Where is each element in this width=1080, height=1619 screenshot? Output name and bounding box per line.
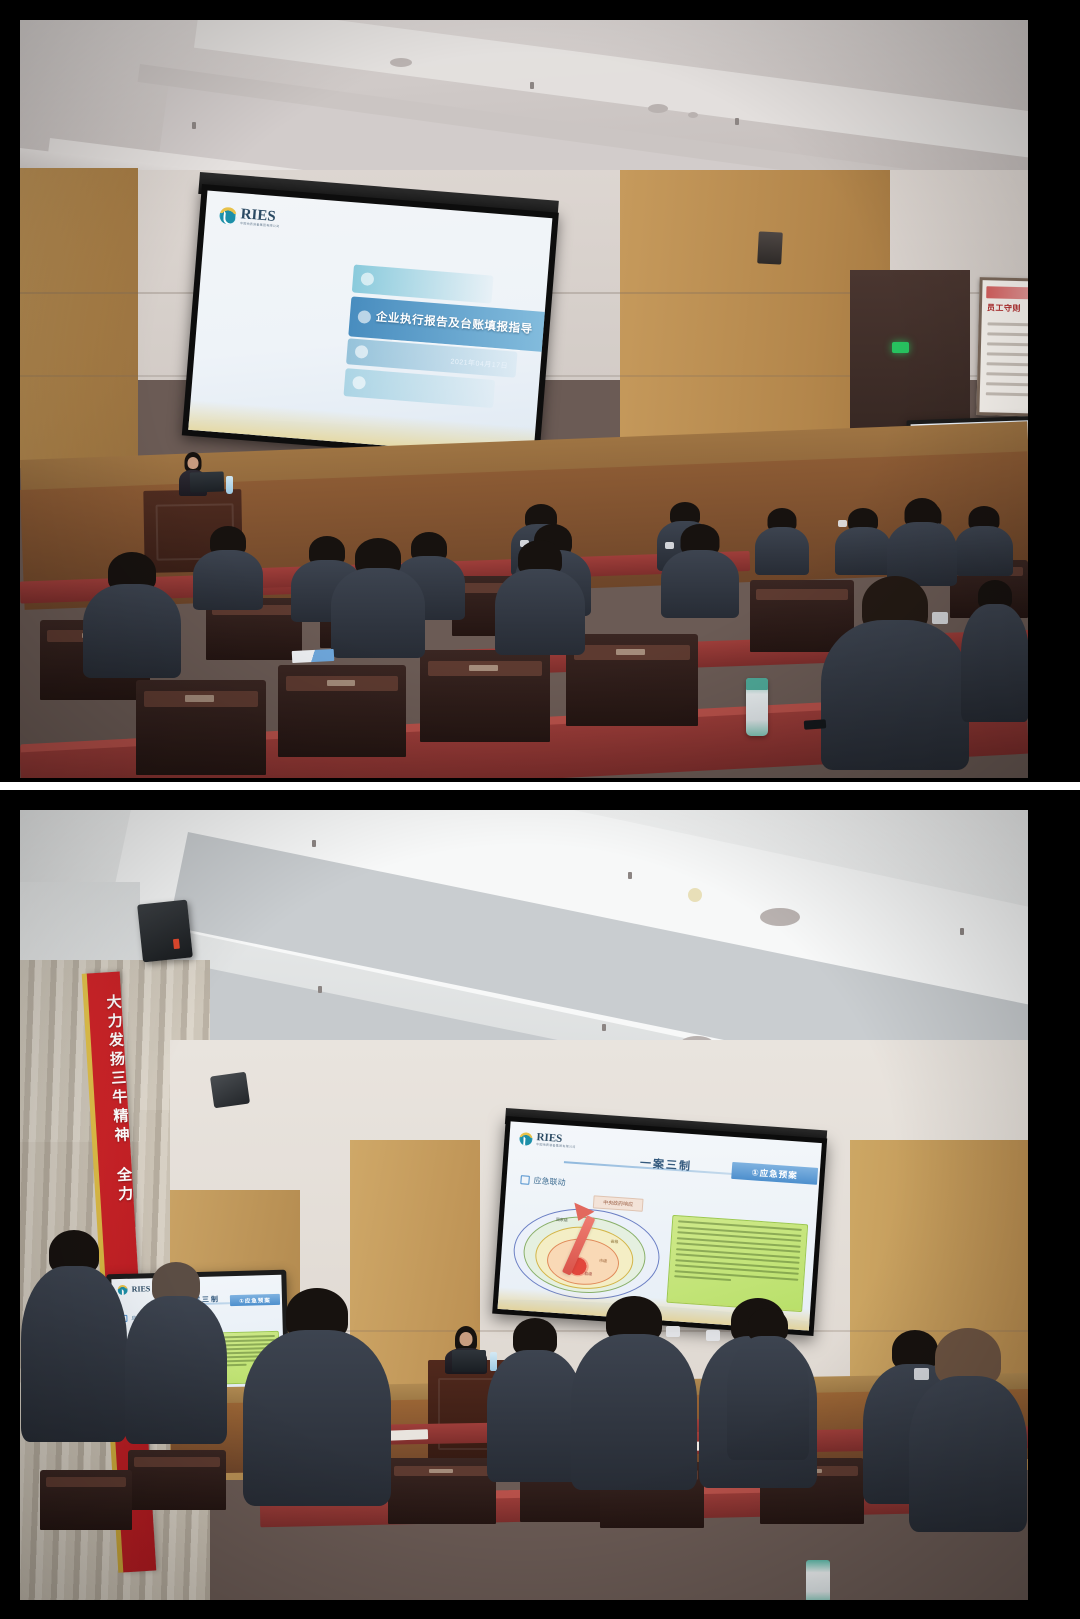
photo-collage-page: 员工守则 RIES 中国地质装备集团有限公司	[0, 0, 1080, 1619]
ries-u-logo-icon	[519, 1132, 533, 1146]
poster-text-line	[986, 372, 1028, 376]
poster-header-band	[986, 286, 1028, 300]
audience-member	[960, 580, 1028, 720]
cup-lid	[746, 678, 768, 690]
presenter-laptop	[452, 1350, 486, 1372]
face-mask	[706, 1330, 720, 1341]
body	[21, 1266, 127, 1442]
body	[487, 1350, 583, 1482]
green-text-line	[674, 1275, 731, 1281]
audience-member	[726, 1308, 810, 1458]
sprinkler-head	[318, 986, 322, 993]
slide-section-tab: ①应急预案	[731, 1162, 818, 1185]
chair-tag	[327, 680, 355, 686]
ceiling-downlight	[688, 888, 702, 902]
auditorium-chair	[388, 1458, 496, 1524]
body	[125, 1296, 227, 1444]
body	[955, 526, 1013, 576]
ceiling-speaker-grille	[760, 908, 800, 926]
ceiling-speaker-icon	[210, 1072, 250, 1109]
audience-member	[124, 1262, 228, 1442]
auditorium-chair	[136, 680, 266, 775]
mobile-phone	[804, 719, 827, 730]
body	[661, 550, 739, 618]
audience-member	[192, 526, 264, 608]
wall-speaker-icon	[757, 231, 783, 264]
ries-logo: RIES 中国地质装备集团有限公司	[219, 206, 281, 229]
body	[495, 569, 585, 655]
ries-subtext: 中国地质装备集团有限公司	[536, 1143, 576, 1150]
audience-member	[570, 1296, 698, 1486]
sprinkler-head	[602, 1024, 606, 1031]
body	[331, 568, 425, 658]
poster-text-line	[986, 382, 1028, 386]
sprinkler-head	[735, 118, 739, 125]
presenter-head	[460, 1332, 473, 1346]
poster-title: 员工守则	[987, 304, 1028, 314]
face-mask	[665, 542, 674, 549]
face-mask	[932, 612, 948, 624]
audience-member	[330, 538, 426, 656]
presenter-head	[188, 457, 199, 469]
ring-label-national: 国家级	[556, 1217, 568, 1224]
ring-label-city: 市级	[599, 1258, 607, 1265]
projector-screen-border: RIES 中国地质装备集团有限公司 企业执行报告及台账填报指导 2021年04月…	[182, 184, 559, 464]
thermos-cup	[806, 1560, 830, 1600]
ring-label-county: 县级	[584, 1271, 592, 1278]
presenter-laptop	[190, 471, 225, 492]
audience-member	[954, 506, 1014, 574]
sprinkler-head	[530, 82, 534, 89]
poster-text-line	[987, 332, 1028, 336]
auditorium-chair	[278, 665, 406, 757]
audience-member	[834, 508, 892, 572]
document-folder	[292, 649, 335, 663]
chair-tag	[429, 1469, 453, 1474]
photo-top-auditorium-wide: 员工守则 RIES 中国地质装备集团有限公司	[20, 20, 1028, 778]
body	[909, 1376, 1027, 1532]
body	[755, 527, 809, 575]
chair-tag	[616, 649, 645, 655]
body	[961, 604, 1028, 722]
audience-member	[20, 1230, 128, 1440]
ring-label-provincial: 省级	[610, 1239, 618, 1246]
projector-slide-title: RIES 中国地质装备集团有限公司 企业执行报告及台账填报指导 2021年04月…	[188, 190, 552, 457]
chair-tag	[469, 665, 498, 671]
ries-u-logo-icon	[219, 206, 237, 224]
ceiling-downlight	[648, 104, 668, 113]
audience-member	[82, 552, 182, 676]
auditorium-chair	[128, 1450, 226, 1510]
audience-member	[754, 508, 810, 572]
poster-text-line	[987, 362, 1028, 366]
wall-speaker-icon	[137, 900, 193, 963]
slide-bullet-label: 应急联动	[533, 1175, 566, 1188]
poster-text-line	[986, 392, 1028, 396]
water-bottle	[226, 476, 233, 494]
audience-member	[494, 540, 586, 652]
face-mask	[666, 1326, 680, 1337]
chair-rail	[46, 1477, 127, 1487]
thermos-cup	[746, 678, 768, 736]
body	[821, 620, 969, 770]
wall-wood-left	[20, 168, 138, 468]
poster-text-line	[987, 342, 1028, 346]
body	[571, 1334, 697, 1490]
checkbox-icon	[520, 1175, 530, 1185]
audience-member	[242, 1288, 392, 1502]
slide-title-text: 一案三制	[640, 1154, 693, 1174]
green-text-line	[678, 1220, 802, 1231]
poster-text-line	[988, 322, 1028, 326]
auditorium-chair	[420, 650, 550, 742]
body	[83, 584, 181, 678]
sprinkler-head	[960, 928, 964, 935]
audience-member	[660, 524, 740, 616]
photo-bottom-auditorium-rear: 大力发扬三牛精神 全力 RIES 中国地质装备集团有限公司 一案三制 ①应急预案…	[20, 810, 1028, 1600]
body	[243, 1330, 391, 1506]
sprinkler-head	[628, 872, 632, 879]
sprinkler-head	[192, 122, 196, 129]
ceiling-downlight	[390, 58, 412, 67]
poster-text-line	[987, 352, 1028, 356]
ceiling-downlight	[688, 112, 698, 118]
audience-member	[886, 498, 958, 584]
wall-poster: 员工守则	[976, 277, 1028, 417]
face-mask	[914, 1368, 929, 1380]
chair-tag	[185, 695, 214, 702]
audience-member	[908, 1328, 1028, 1528]
sprinkler-head	[312, 840, 316, 847]
ries-logo: RIES 中国地质装备集团有限公司	[519, 1131, 576, 1149]
body	[835, 527, 891, 575]
slide-bullet-item: 应急联动	[520, 1174, 566, 1188]
audience-member	[820, 576, 970, 766]
speaker-indicator-led	[173, 939, 180, 950]
document-on-desk	[386, 1429, 428, 1440]
auditorium-chair	[40, 1470, 132, 1530]
chair-rail	[134, 1457, 220, 1467]
exit-sign-icon	[892, 342, 909, 353]
body	[193, 550, 263, 610]
face-mask	[838, 520, 847, 527]
body	[727, 1336, 809, 1460]
